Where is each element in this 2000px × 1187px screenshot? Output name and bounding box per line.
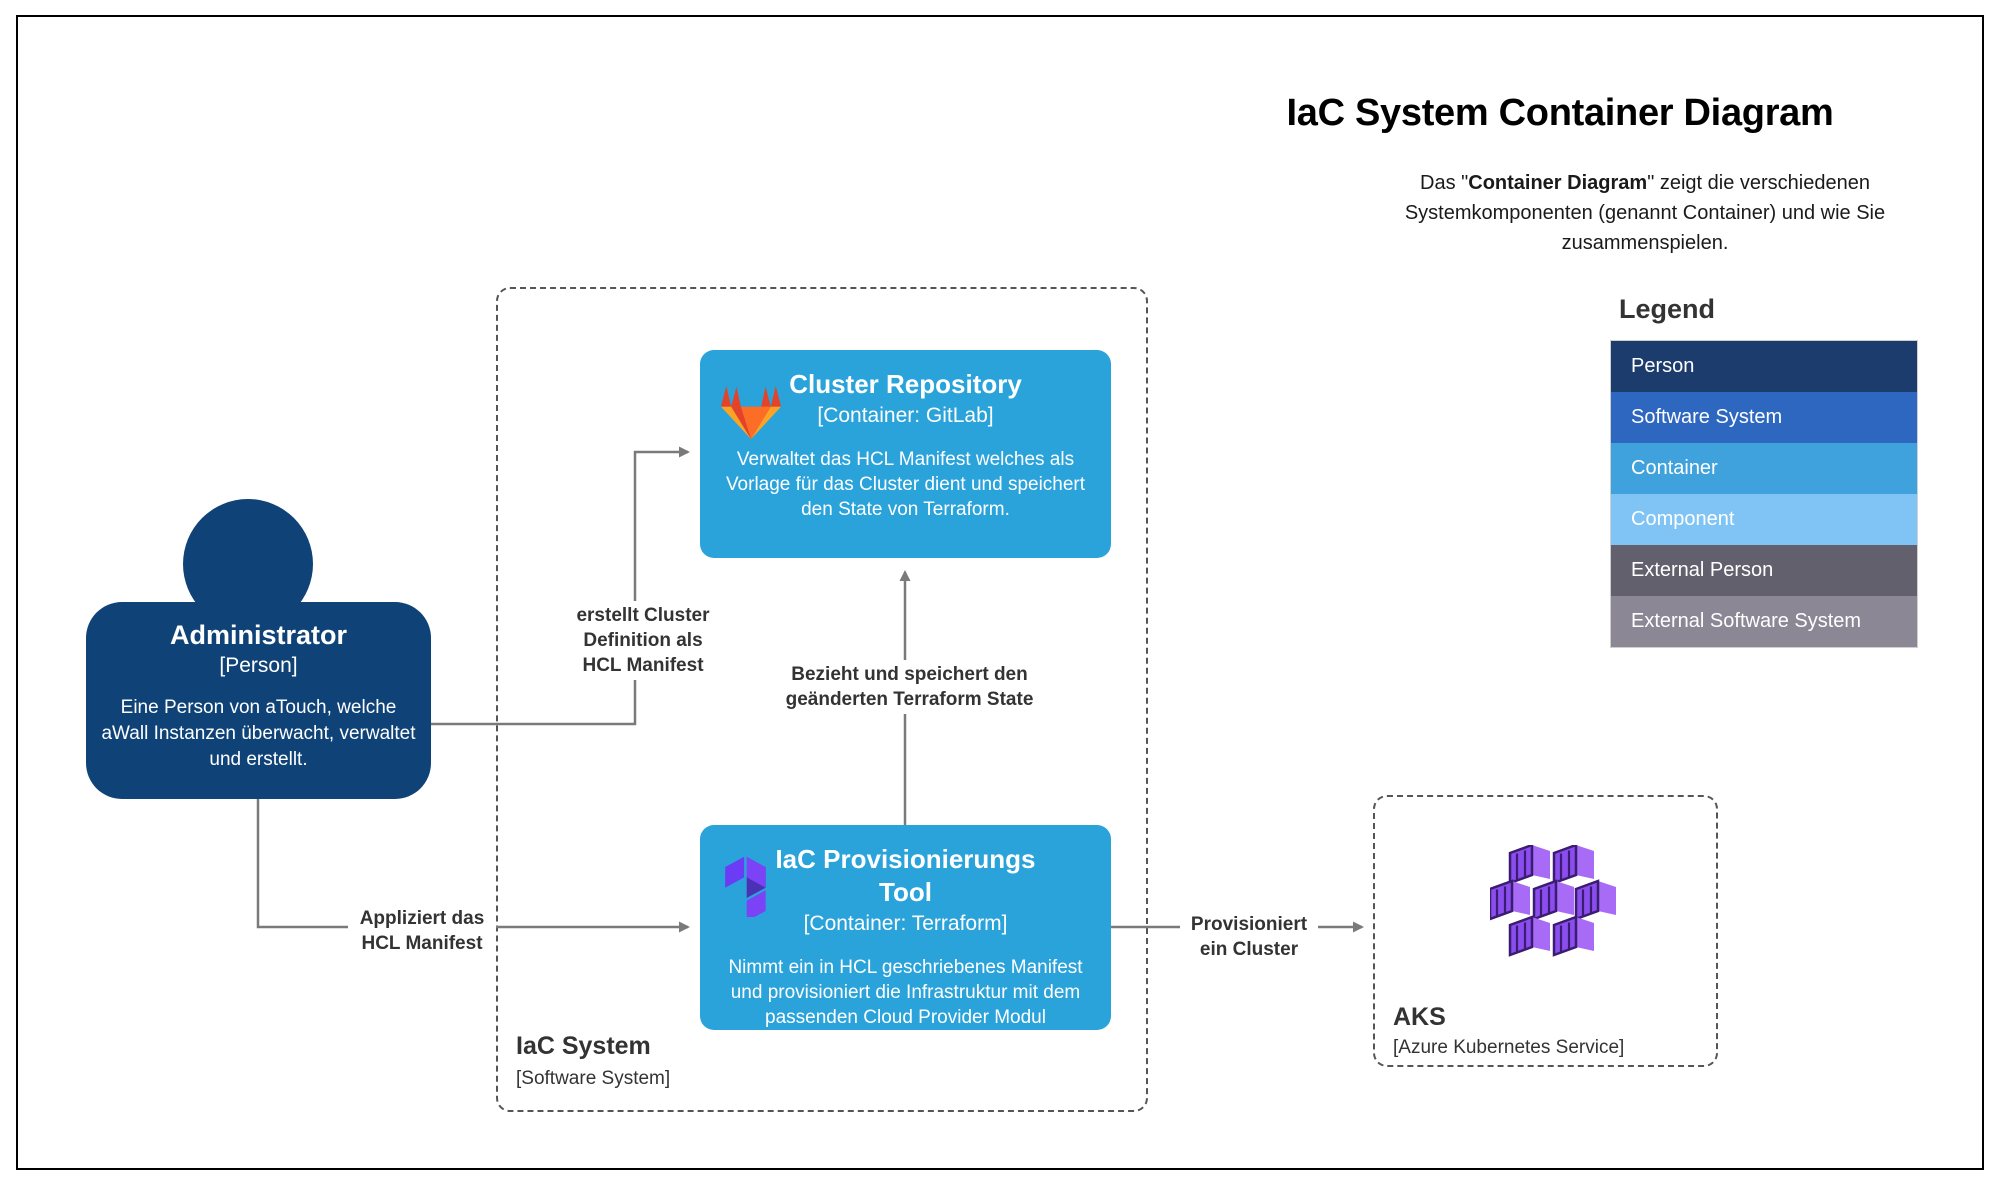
- person-body: Administrator [Person] Eine Person von a…: [86, 602, 431, 799]
- kubernetes-cluster-icon: [1490, 845, 1620, 960]
- node-tech: [Person]: [100, 651, 417, 681]
- edge-label-admin-to-tool: Appliziert das HCL Manifest: [348, 904, 496, 958]
- legend-item-component: Component: [1611, 494, 1917, 545]
- node-iac-provisioning-tool[interactable]: IaC Provisionierungs Tool [Container: Te…: [700, 825, 1111, 1030]
- edge-label-admin-to-repo: erstellt Cluster Definition als HCL Mani…: [564, 601, 722, 680]
- legend-title: Legend: [1619, 294, 1715, 325]
- legend-item-external-person: External Person: [1611, 545, 1917, 596]
- node-name: Administrator: [100, 620, 417, 651]
- legend-item-software-system: Software System: [1611, 392, 1917, 443]
- diagram-canvas: IaC System Container Diagram Das "Contai…: [0, 0, 2000, 1187]
- subtitle-pre: Das ": [1420, 172, 1468, 194]
- legend-item-person: Person: [1611, 341, 1917, 392]
- legend-item-label: Software System: [1631, 406, 1782, 429]
- edge-label-tool-to-repo: Bezieht und speichert den geänderten Ter…: [778, 660, 1041, 714]
- legend-item-label: External Software System: [1631, 610, 1861, 633]
- node-cluster-repository[interactable]: Cluster Repository [Container: GitLab] V…: [700, 350, 1111, 558]
- legend-item-container: Container: [1611, 443, 1917, 494]
- boundary-aks-label: AKS: [1393, 1003, 1446, 1032]
- edge-label-tool-to-aks: Provisioniert ein Cluster: [1180, 910, 1318, 964]
- legend-item-label: Person: [1631, 355, 1694, 378]
- legend-item-label: Container: [1631, 457, 1718, 480]
- subtitle-emphasis: Container Diagram: [1468, 172, 1647, 194]
- boundary-iac-system-tech: [Software System]: [516, 1068, 670, 1090]
- legend-item-external-software-system: External Software System: [1611, 596, 1917, 647]
- node-description: Verwaltet das HCL Manifest welches als V…: [700, 447, 1111, 522]
- boundary-aks-tech: [Azure Kubernetes Service]: [1393, 1037, 1624, 1059]
- node-administrator[interactable]: Administrator [Person] Eine Person von a…: [86, 499, 431, 799]
- legend-box: Person Software System Container Compone…: [1610, 340, 1918, 648]
- page-subtitle: Das "Container Diagram" zeigt die versch…: [1330, 168, 1960, 258]
- legend-item-label: Component: [1631, 508, 1734, 531]
- boundary-iac-system-label: IaC System: [516, 1032, 651, 1061]
- gitlab-icon: [720, 380, 782, 442]
- page-title: IaC System Container Diagram: [1160, 92, 1960, 135]
- node-description: Nimmt ein in HCL geschriebenes Manifest …: [700, 955, 1111, 1030]
- legend-item-label: External Person: [1631, 559, 1773, 582]
- terraform-icon: [720, 855, 782, 917]
- node-description: Eine Person von aTouch, welche aWall Ins…: [100, 695, 417, 773]
